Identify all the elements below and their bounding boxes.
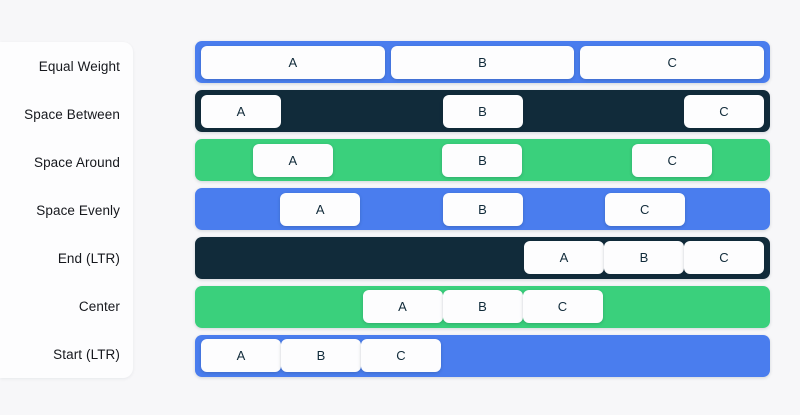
chip-a[interactable]: A	[280, 193, 360, 226]
demo-row-space-evenly: A B C	[195, 185, 770, 234]
chip-b[interactable]: B	[443, 290, 523, 323]
demo-row-end-ltr: A B C	[195, 233, 770, 282]
chip-c[interactable]: C	[684, 241, 764, 274]
row-label-text: End (LTR)	[58, 251, 120, 266]
row-label-center: Center	[0, 282, 133, 330]
chip-a[interactable]: A	[363, 290, 443, 323]
row-label-text: Start (LTR)	[53, 347, 120, 362]
layout-demo-stage: Equal Weight Space Between Space Around …	[0, 0, 800, 415]
row-label-equal-weight: Equal Weight	[0, 42, 133, 90]
track-center: A B C	[195, 286, 770, 328]
row-label-start-ltr: Start (LTR)	[0, 330, 133, 378]
chip-a[interactable]: A	[201, 95, 281, 128]
chip-b[interactable]: B	[443, 193, 523, 226]
chip-c[interactable]: C	[605, 193, 685, 226]
chip-b[interactable]: B	[604, 241, 684, 274]
track-end-ltr: A B C	[195, 237, 770, 279]
row-label-text: Space Between	[24, 107, 120, 122]
chip-c[interactable]: C	[684, 95, 764, 128]
chip-c[interactable]: C	[580, 46, 764, 79]
chip-a[interactable]: A	[524, 241, 604, 274]
demo-row-start-ltr: A B C	[195, 331, 770, 380]
row-label-space-around: Space Around	[0, 138, 133, 186]
demo-row-space-between: A B C	[195, 87, 770, 136]
chip-c[interactable]: C	[632, 144, 712, 177]
row-label-text: Space Evenly	[36, 203, 120, 218]
track-space-evenly: A B C	[195, 188, 770, 230]
chip-a[interactable]: A	[201, 339, 281, 372]
row-label-text: Equal Weight	[39, 59, 120, 74]
chip-b[interactable]: B	[281, 339, 361, 372]
row-label-panel: Equal Weight Space Between Space Around …	[0, 42, 133, 378]
track-equal-weight: A B C	[195, 41, 770, 83]
chip-b[interactable]: B	[442, 144, 522, 177]
row-label-end-ltr: End (LTR)	[0, 234, 133, 282]
demo-rows-container: A B C A B C A B C A B	[195, 38, 770, 380]
demo-row-space-around: A B C	[195, 136, 770, 185]
chip-b[interactable]: B	[443, 95, 523, 128]
demo-row-equal-weight: A B C	[195, 38, 770, 87]
track-space-around: A B C	[195, 139, 770, 181]
chip-c[interactable]: C	[523, 290, 603, 323]
track-space-between: A B C	[195, 90, 770, 132]
demo-row-center: A B C	[195, 282, 770, 331]
row-label-space-between: Space Between	[0, 90, 133, 138]
chip-a[interactable]: A	[201, 46, 385, 79]
chip-a[interactable]: A	[253, 144, 333, 177]
chip-b[interactable]: B	[391, 46, 575, 79]
row-label-text: Center	[79, 299, 120, 314]
chip-c[interactable]: C	[361, 339, 441, 372]
track-start-ltr: A B C	[195, 335, 770, 377]
row-label-space-evenly: Space Evenly	[0, 186, 133, 234]
row-label-text: Space Around	[34, 155, 120, 170]
